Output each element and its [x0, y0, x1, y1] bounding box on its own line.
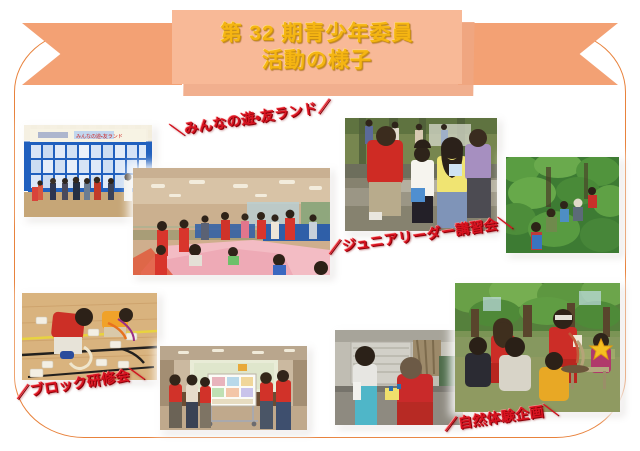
caption-trail-mark-1: ／ — [316, 98, 333, 116]
photo-hall-figures — [133, 168, 330, 275]
svg-text:みんなの遊・友ランド: みんなの遊・友ランド — [76, 133, 123, 140]
title-ribbon: 第 32 期青少年委員 活動の様子 — [0, 0, 640, 100]
photo-presentation-figures — [160, 346, 307, 430]
photo-presentation-room — [160, 346, 307, 430]
photo-outdoor-cooking — [345, 118, 497, 231]
poster-canvas: 第 32 期青少年委員 活動の様子 みんなの遊・友ランド — [0, 0, 640, 451]
ribbon-tail-left — [22, 23, 182, 85]
photo-pair-figures — [335, 330, 463, 425]
caption-trail-mark-3: ＼ — [129, 365, 146, 383]
photo-cooking-figures — [345, 118, 497, 231]
ribbon-panel: 第 32 期青少年委員 活動の様子 — [172, 10, 462, 84]
caption-trail-mark-4: ＼ — [543, 401, 559, 419]
photo-outdoor-pair — [335, 330, 463, 425]
caption-text-1: みんなの遊・友ランド — [183, 100, 319, 137]
caption-trail-mark-2: ＼ — [497, 214, 513, 232]
ribbon-tail-right — [458, 23, 618, 85]
photo-forest-walk — [506, 157, 619, 253]
poster-title-line-2: 活動の様子 — [262, 47, 372, 74]
photo-forest-figures — [506, 157, 619, 253]
photo-group-figures — [455, 283, 620, 412]
poster-title-line-1: 第 32 期青少年委員 — [220, 20, 413, 47]
caption-min-na-no-yuyu-land: ＼みんなの遊・友ランド／ — [168, 96, 333, 141]
photo-pink-parachute-hall — [133, 168, 330, 275]
photo-outdoor-group-activity — [455, 283, 620, 412]
